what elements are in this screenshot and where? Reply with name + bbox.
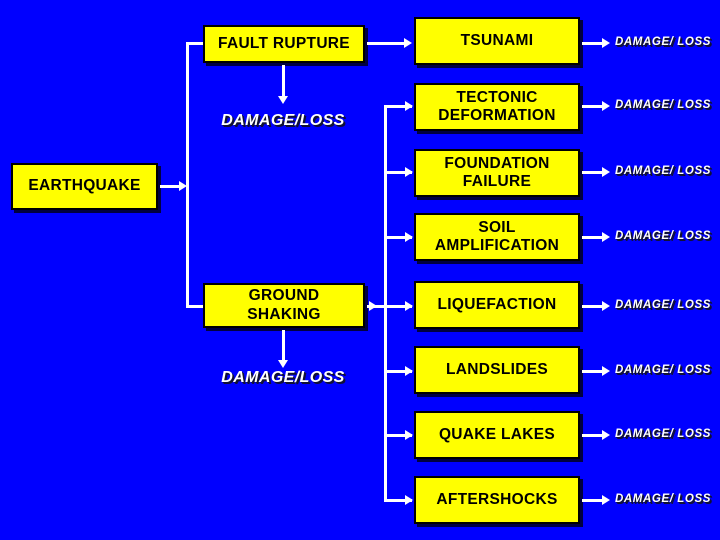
caption-aftershocks-damage-loss: DAMAGE/ LOSS [615, 493, 711, 505]
node-ground-shaking-label: GROUND SHAKING [247, 287, 321, 324]
arrowhead-liquefaction-to-damage [602, 301, 610, 311]
node-soil-amplification[interactable]: SOIL AMPLIFICATION [414, 213, 580, 261]
caption-soil-amplification-damage-loss: DAMAGE/ LOSS [615, 230, 711, 242]
node-aftershocks[interactable]: AFTERSHOCKS [414, 476, 580, 524]
node-landslides-label: LANDSLIDES [446, 361, 548, 379]
caption-liquefaction-damage-loss: DAMAGE/ LOSS [615, 299, 711, 311]
node-tsunami[interactable]: TSUNAMI [414, 17, 580, 65]
connector-liquefaction-to-damage [582, 305, 604, 308]
connector-aftershocks-to-damage [582, 499, 604, 502]
caption-fault-rupture-damage-loss: DAMAGE/LOSS [213, 112, 353, 130]
connector-tsunami-to-damage [582, 42, 604, 45]
arrowhead-aftershocks-to-damage [602, 495, 610, 505]
connector-quake-lakes-to-damage [582, 434, 604, 437]
caption-ground-shaking-damage-loss: DAMAGE/LOSS [213, 369, 353, 387]
arrowhead-ground-shaking-to-damage [278, 360, 288, 368]
node-foundation-failure-line2: FAILURE [463, 173, 531, 191]
connector-bus-to-ground-shaking [186, 305, 203, 308]
node-landslides[interactable]: LANDSLIDES [414, 346, 580, 394]
arrowhead-bus-to-tectonic-deformation [405, 101, 413, 111]
node-ground-shaking[interactable]: GROUND SHAKING [203, 283, 365, 328]
bus-primary-vertical [186, 42, 189, 308]
node-tectonic-deformation-line2: DEFORMATION [438, 107, 556, 125]
connector-tectonic-deformation-to-damage [582, 105, 604, 108]
arrowhead-tsunami-to-damage [602, 38, 610, 48]
arrowhead-ground-shaking-to-bus [369, 301, 377, 311]
arrowhead-tectonic-deformation-to-damage [602, 101, 610, 111]
arrowhead-bus-to-landslides [405, 366, 413, 376]
connector-ground-shaking-to-damage [282, 330, 285, 362]
connector-earthquake-to-bus [160, 185, 180, 188]
node-aftershocks-label: AFTERSHOCKS [436, 491, 557, 509]
node-soil-amplification-line2: AMPLIFICATION [435, 237, 559, 255]
caption-quake-lakes-damage-loss: DAMAGE/ LOSS [615, 428, 711, 440]
arrowhead-bus-to-aftershocks [405, 495, 413, 505]
arrowhead-foundation-failure-to-damage [602, 167, 610, 177]
diagram-canvas: EARTHQUAKE FAULT RUPTURE DAMAGE/LOSS GRO… [0, 0, 720, 540]
caption-tsunami-damage-loss: DAMAGE/ LOSS [615, 36, 711, 48]
connector-fault-rupture-to-damage [282, 65, 285, 98]
node-tectonic-deformation-line1: TECTONIC [456, 89, 537, 107]
node-liquefaction[interactable]: LIQUEFACTION [414, 281, 580, 329]
node-quake-lakes[interactable]: QUAKE LAKES [414, 411, 580, 459]
node-foundation-failure-line1: FOUNDATION [444, 155, 549, 173]
arrowhead-bus-to-liquefaction [405, 301, 413, 311]
node-tectonic-deformation[interactable]: TECTONIC DEFORMATION [414, 83, 580, 131]
arrowhead-bus-to-quake-lakes [405, 430, 413, 440]
node-quake-lakes-label: QUAKE LAKES [439, 426, 555, 444]
connector-landslides-to-damage [582, 370, 604, 373]
arrowhead-bus-to-soil-amplification [405, 232, 413, 242]
arrowhead-landslides-to-damage [602, 366, 610, 376]
connector-bus-to-fault-rupture [186, 42, 203, 45]
node-earthquake[interactable]: EARTHQUAKE [11, 163, 158, 210]
node-fault-rupture-label: FAULT RUPTURE [218, 35, 350, 53]
connector-fault-rupture-to-tsunami [367, 42, 406, 45]
caption-foundation-failure-damage-loss: DAMAGE/ LOSS [615, 165, 711, 177]
caption-tectonic-deformation-damage-loss: DAMAGE/ LOSS [615, 99, 711, 111]
node-tsunami-label: TSUNAMI [461, 32, 534, 50]
node-fault-rupture[interactable]: FAULT RUPTURE [203, 25, 365, 63]
node-soil-amplification-line1: SOIL [478, 219, 515, 237]
node-liquefaction-label: LIQUEFACTION [438, 296, 557, 314]
connector-soil-amplification-to-damage [582, 236, 604, 239]
arrowhead-fault-rupture-to-damage [278, 96, 288, 104]
node-foundation-failure[interactable]: FOUNDATION FAILURE [414, 149, 580, 197]
caption-landslides-damage-loss: DAMAGE/ LOSS [615, 364, 711, 376]
connector-foundation-failure-to-damage [582, 171, 604, 174]
arrowhead-quake-lakes-to-damage [602, 430, 610, 440]
arrowhead-bus-to-foundation-failure [405, 167, 413, 177]
arrowhead-fault-rupture-to-tsunami [404, 38, 412, 48]
arrowhead-soil-amplification-to-damage [602, 232, 610, 242]
node-earthquake-label: EARTHQUAKE [28, 177, 140, 195]
bus-secondary-vertical [384, 105, 387, 499]
